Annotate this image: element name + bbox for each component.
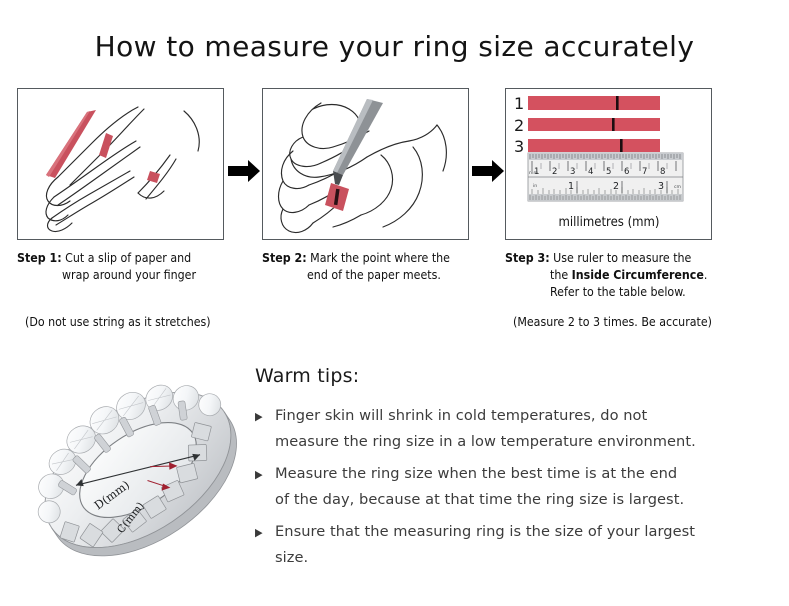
tip-3-text: Ensure that the measuring ring is the si…: [275, 519, 695, 570]
ruler-cm-unit-label: mm: [529, 171, 538, 176]
step-3-illustration-panel: 1 2 3: [505, 88, 712, 240]
right-arrow-icon: [226, 140, 262, 184]
paper-strip-3: [528, 139, 660, 152]
diamond-eternity-ring-illustration: D(mm) C(mm): [22, 352, 254, 587]
strip-number-3: 3: [514, 137, 524, 156]
step-1-line1: Cut a slip of paper and: [65, 251, 191, 265]
page-title: How to measure your ring size accurately: [0, 30, 789, 63]
ruler-cm-tick-2: 2: [552, 167, 557, 177]
step-3-line2-bold: Inside Circumference: [572, 268, 704, 282]
step-3-line3: Refer to the table below.: [505, 284, 765, 301]
strip-number-2: 2: [514, 116, 524, 135]
tip-2-line2: of the day, because at that time the rin…: [275, 491, 684, 508]
step-3-line2: the Inside Circumference.: [505, 267, 765, 284]
strip-number-1: 1: [514, 94, 524, 113]
bullet-triangle-icon: ▶: [255, 461, 275, 487]
tip-1-line2: measure the ring size in a low temperatu…: [275, 433, 696, 450]
tip-2-line1: Measure the ring size when the best time…: [275, 465, 677, 482]
paper-strip-wrapped-1: [99, 133, 113, 158]
tip-1-line1: Finger skin will shrink in cold temperat…: [275, 407, 647, 424]
ruler-cm-tick-6: 6: [624, 167, 629, 177]
tip-2-text: Measure the ring size when the best time…: [275, 461, 684, 512]
tip-item-3: ▶ Ensure that the measuring ring is the …: [255, 519, 775, 570]
tip-3-line2: size.: [275, 549, 308, 566]
measured-paper-strips-on-ruler-illustration: 1 2 3: [506, 89, 711, 239]
tip-item-1: ▶ Finger skin will shrink in cold temper…: [255, 403, 775, 454]
step-3-line1: Use ruler to measure the: [553, 251, 691, 265]
hand-with-paper-strip-illustration: [18, 89, 223, 239]
arrow-step1-to-step2: [226, 140, 262, 184]
bullet-triangle-icon: ▶: [255, 519, 275, 545]
hand-marking-paper-with-pen-illustration: [263, 89, 468, 239]
ruler-cm-tick-3: 3: [570, 167, 575, 177]
step-3-line2-post: .: [704, 268, 708, 282]
paper-strip-loose: [46, 110, 96, 178]
step-1-caption: Step 1: Cut a slip of paper andwrap arou…: [17, 250, 257, 284]
step-3-caption: Step 3: Use ruler to measure thethe Insi…: [505, 250, 765, 301]
svg-text:in: in: [533, 183, 537, 189]
bullet-triangle-icon: ▶: [255, 403, 275, 429]
step-2-line1: Mark the point where the: [310, 251, 450, 265]
paper-strip-1: [528, 96, 660, 110]
strip-2-mark: [612, 118, 615, 131]
step-2-line2: end of the paper meets.: [262, 267, 502, 284]
tip-3-line1: Ensure that the measuring ring is the si…: [275, 523, 695, 540]
step-3-note: (Measure 2 to 3 times. Be accurate): [513, 315, 712, 329]
ruler-cm-tick-5: 5: [606, 167, 611, 177]
tip-item-2: ▶ Measure the ring size when the best ti…: [255, 461, 775, 512]
steps-illustration-row: 1 2 3: [0, 88, 789, 240]
warm-tips-section: Warm tips: ▶ Finger skin will shrink in …: [255, 365, 775, 577]
tip-1-text: Finger skin will shrink in cold temperat…: [275, 403, 696, 454]
paper-strip-2: [528, 118, 660, 131]
step-1-label: Step 1:: [17, 251, 62, 265]
ruler-cm-tick-4: 4: [588, 167, 593, 177]
arrow-step2-to-step3: [470, 140, 506, 184]
strip-3-mark: [620, 139, 623, 152]
step-2-illustration-panel: [262, 88, 469, 240]
pen-icon: [333, 99, 383, 185]
step-2-label: Step 2:: [262, 251, 307, 265]
step-3-line2-pre: the: [550, 268, 572, 282]
right-arrow-icon: [470, 140, 506, 184]
step-1-line2: wrap around your finger: [17, 267, 257, 284]
paper-strip-wrapped-with-mark: [325, 183, 349, 211]
strip-1-mark: [616, 96, 619, 110]
ring-diagram: D(mm) C(mm): [22, 352, 254, 587]
step-1-note: (Do not use string as it stretches): [25, 315, 211, 329]
step-1-illustration-panel: [17, 88, 224, 240]
warm-tips-heading: Warm tips:: [255, 365, 775, 387]
step-3-label: Step 3:: [505, 251, 550, 265]
step-2-caption: Step 2: Mark the point where theend of t…: [262, 250, 502, 284]
ruler-cm-tick-7: 7: [642, 167, 647, 177]
ruler: 1 2 3 4 5 6 7 8 mm 1 2 3: [528, 153, 683, 201]
ruler-unit-caption: millimetres (mm): [558, 215, 659, 230]
ruler-cm-tick-8: 8: [660, 167, 665, 177]
